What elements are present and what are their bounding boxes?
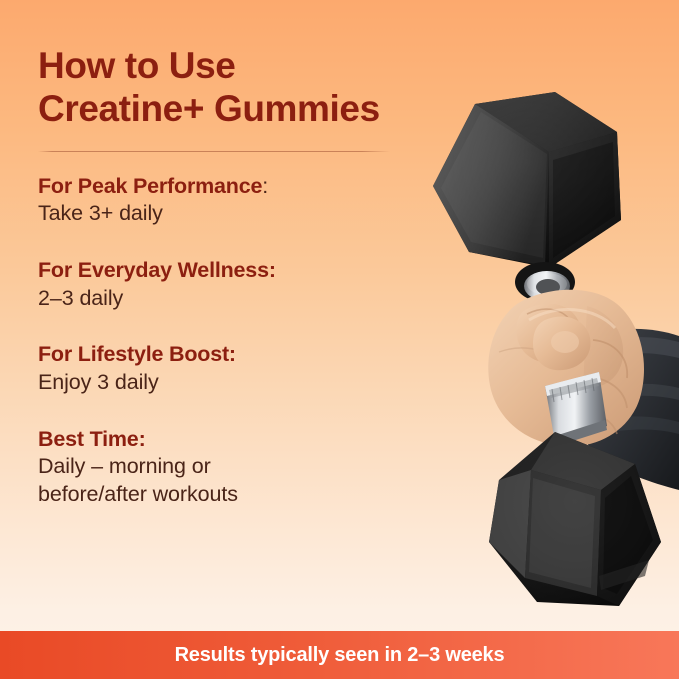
section-heading-text: For Peak Performance [38,174,262,198]
text-column: How to Use Creatine+ Gummies For Peak Pe… [38,44,438,509]
section-heading: For Everyday Wellness: [38,257,438,285]
section-heading-colon: : [269,258,276,282]
section-heading: Best Time: [38,426,438,454]
section-best-time: Best Time: Daily – morning or before/aft… [38,426,438,509]
section-heading-colon: : [229,342,236,366]
section-heading: For Lifestyle Boost: [38,341,438,369]
poster-canvas: How to Use Creatine+ Gummies For Peak Pe… [0,0,679,679]
hand-fist [488,290,644,447]
section-heading-text: For Everyday Wellness [38,258,269,282]
dumbbell-upper-head [433,92,621,268]
section-body: Enjoy 3 daily [38,369,438,397]
section-body: Daily – morning or before/after workouts [38,453,438,509]
section-heading-text: For Lifestyle Boost [38,342,229,366]
page-title-line-2: Creatine+ Gummies [38,87,438,130]
dumbbell-lower-collar [545,372,607,446]
section-body: Take 3+ daily [38,200,438,228]
section-peak-performance: For Peak Performance: Take 3+ daily [38,173,438,228]
instruction-sections: For Peak Performance: Take 3+ daily For … [38,173,438,510]
page-title-line-1: How to Use [38,44,438,87]
section-heading-colon: : [262,174,268,198]
section-lifestyle-boost: For Lifestyle Boost: Enjoy 3 daily [38,341,438,396]
dumbbell-lower-head [489,432,661,606]
section-body: 2–3 daily [38,285,438,313]
dumbbell-upper-collar [515,262,575,302]
page-title: How to Use Creatine+ Gummies [38,44,438,131]
results-banner: Results typically seen in 2–3 weeks [0,631,679,679]
title-divider [38,151,390,152]
forearm-sleeve [576,329,679,490]
section-everyday-wellness: For Everyday Wellness: 2–3 daily [38,257,438,312]
section-heading-colon: : [139,427,146,451]
section-heading: For Peak Performance: [38,173,438,201]
section-heading-text: Best Time [38,427,139,451]
results-banner-text: Results typically seen in 2–3 weeks [175,644,505,667]
